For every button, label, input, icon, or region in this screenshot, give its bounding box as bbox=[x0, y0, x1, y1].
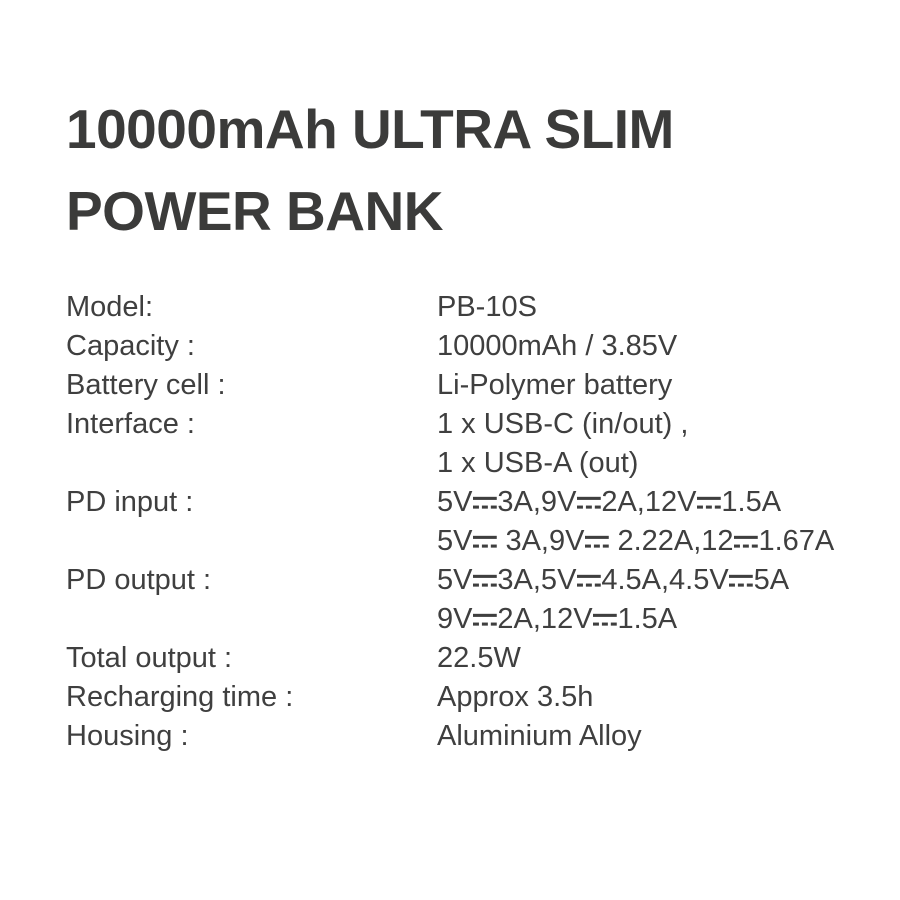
spec-row: Battery cell :Li-Polymer battery bbox=[66, 366, 886, 405]
spec-value-text: 5V bbox=[437, 525, 472, 557]
spec-value-text: Approx 3.5h bbox=[437, 681, 593, 713]
spec-value: 1 x USB-C (in/out) , bbox=[437, 405, 886, 444]
dc-voltage-icon bbox=[473, 533, 497, 551]
spec-value-text: 3A,9V bbox=[497, 486, 576, 518]
spec-value-text: 5V bbox=[437, 486, 472, 518]
spec-value: 1 x USB-A (out) bbox=[437, 444, 886, 483]
page-title-line-1: 10000mAh ULTRA SLIM bbox=[66, 88, 866, 170]
spec-value: 5V3A,5V4.5A,4.5V5A bbox=[437, 561, 886, 600]
spec-row: 9V2A,12V1.5A bbox=[66, 600, 886, 639]
spec-label: Model: bbox=[66, 288, 437, 327]
spec-row: 5V 3A,9V 2.22A,121.67A bbox=[66, 522, 886, 561]
spec-value-text: 5A bbox=[754, 564, 789, 596]
spec-label: Battery cell : bbox=[66, 366, 437, 405]
dc-voltage-icon bbox=[585, 533, 609, 551]
spec-value-text: 2A,12V bbox=[601, 486, 696, 518]
dc-voltage-icon bbox=[593, 611, 617, 629]
spec-row: Interface :1 x USB-C (in/out) , bbox=[66, 405, 886, 444]
spec-value-text: 1.67A bbox=[758, 525, 834, 557]
spec-value: 5V 3A,9V 2.22A,121.67A bbox=[437, 522, 886, 561]
spec-label: Capacity : bbox=[66, 327, 437, 366]
spec-value: Aluminium Alloy bbox=[437, 717, 886, 756]
spec-row: PD input :5V3A,9V2A,12V1.5A bbox=[66, 483, 886, 522]
spec-value-text: 9V bbox=[437, 603, 472, 635]
spec-value: Approx 3.5h bbox=[437, 678, 886, 717]
spec-row: Housing :Aluminium Alloy bbox=[66, 717, 886, 756]
spec-value-text: 1 x USB-A (out) bbox=[437, 447, 638, 479]
spec-value: 10000mAh / 3.85V bbox=[437, 327, 886, 366]
dc-voltage-icon bbox=[577, 572, 601, 590]
spec-value-text: 1.5A bbox=[721, 486, 781, 518]
spec-value: 5V3A,9V2A,12V1.5A bbox=[437, 483, 886, 522]
spec-value-text: 22.5W bbox=[437, 642, 521, 674]
spec-value-text: 3A,5V bbox=[497, 564, 576, 596]
spec-label: Total output : bbox=[66, 639, 437, 678]
spec-value-text: 1.5A bbox=[617, 603, 677, 635]
dc-voltage-icon bbox=[473, 611, 497, 629]
spec-value-text: 2A,12V bbox=[497, 603, 592, 635]
spec-row: Recharging time :Approx 3.5h bbox=[66, 678, 886, 717]
spec-label: PD output : bbox=[66, 561, 437, 600]
spec-label: PD input : bbox=[66, 483, 437, 522]
spec-row: Model:PB-10S bbox=[66, 288, 886, 327]
dc-voltage-icon bbox=[473, 494, 497, 512]
spec-value: PB-10S bbox=[437, 288, 886, 327]
spec-label: Interface : bbox=[66, 405, 437, 444]
spec-value-text: 4.5A,4.5V bbox=[601, 564, 728, 596]
spec-label: Housing : bbox=[66, 717, 437, 756]
spec-value-text: 10000mAh / 3.85V bbox=[437, 330, 677, 362]
spec-value-text: 3A,9V bbox=[497, 525, 584, 557]
spec-value-text: 5V bbox=[437, 564, 472, 596]
product-spec-sheet: 10000mAh ULTRA SLIM POWER BANK Model:PB-… bbox=[0, 0, 900, 900]
page-title: 10000mAh ULTRA SLIM POWER BANK bbox=[66, 88, 866, 252]
dc-voltage-icon bbox=[473, 572, 497, 590]
spec-row: PD output :5V3A,5V4.5A,4.5V5A bbox=[66, 561, 886, 600]
spec-value-text: PB-10S bbox=[437, 291, 537, 323]
specification-table: Model:PB-10SCapacity :10000mAh / 3.85VBa… bbox=[66, 288, 886, 756]
spec-value: 22.5W bbox=[437, 639, 886, 678]
spec-row: Capacity :10000mAh / 3.85V bbox=[66, 327, 886, 366]
dc-voltage-icon bbox=[577, 494, 601, 512]
spec-value: 9V2A,12V1.5A bbox=[437, 600, 886, 639]
dc-voltage-icon bbox=[734, 533, 758, 551]
spec-value-text: 2.22A,12 bbox=[609, 525, 733, 557]
spec-value-text: Aluminium Alloy bbox=[437, 720, 642, 752]
page-title-line-2: POWER BANK bbox=[66, 170, 866, 252]
dc-voltage-icon bbox=[729, 572, 753, 590]
spec-row: Total output :22.5W bbox=[66, 639, 886, 678]
spec-value: Li-Polymer battery bbox=[437, 366, 886, 405]
spec-label: Recharging time : bbox=[66, 678, 437, 717]
spec-value-text: 1 x USB-C (in/out) , bbox=[437, 408, 688, 440]
spec-row: 1 x USB-A (out) bbox=[66, 444, 886, 483]
dc-voltage-icon bbox=[697, 494, 721, 512]
spec-value-text: Li-Polymer battery bbox=[437, 369, 672, 401]
